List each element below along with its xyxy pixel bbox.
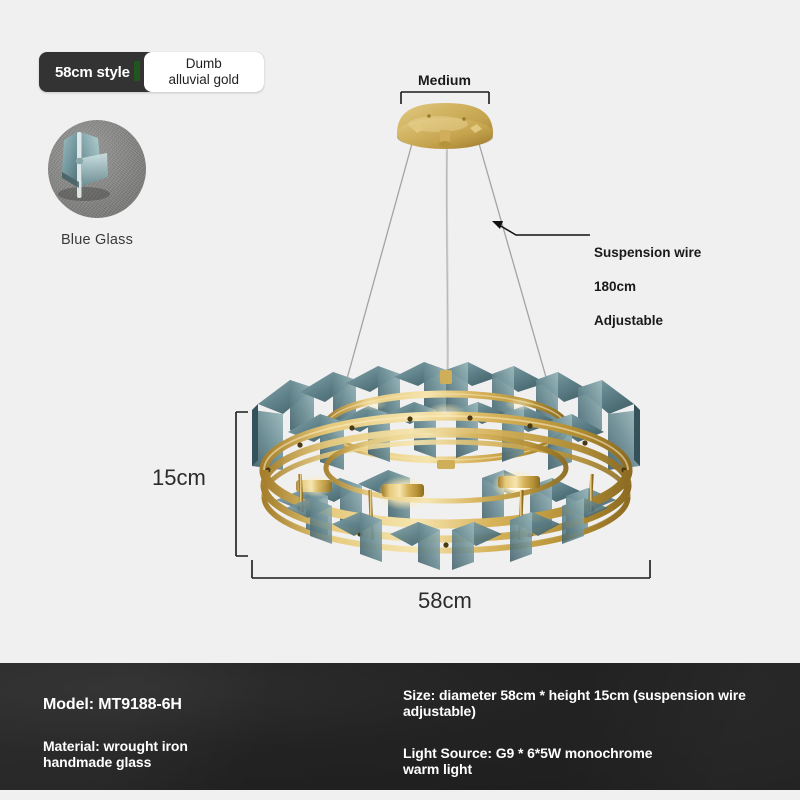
- height-dimension-bracket: [236, 412, 248, 556]
- chandelier-body: [252, 362, 640, 570]
- spec-column-right: Size: diameter 58cm * height 15cm (suspe…: [403, 687, 783, 777]
- spec-material-line2: handmade glass: [43, 754, 373, 770]
- spec-bar: Model: MT9188-6H Material: wrought iron …: [0, 663, 800, 790]
- bottom-strip: [0, 790, 800, 800]
- spec-size-line2: adjustable): [403, 703, 783, 719]
- canopy-dimension-bracket: [401, 92, 489, 104]
- spec-size-line1: Size: diameter 58cm * height 15cm (suspe…: [403, 687, 783, 703]
- ceiling-canopy: [397, 103, 493, 149]
- suspension-wire-leader-line: [492, 221, 590, 235]
- product-spec-image: 58cm style Dumb alluvial gold: [0, 0, 800, 800]
- spec-light-line2: warm light: [403, 761, 783, 777]
- diameter-dimension-bracket: [252, 560, 650, 578]
- spec-model: Model: MT9188-6H: [43, 695, 373, 714]
- spec-column-left: Model: MT9188-6H Material: wrought iron …: [43, 695, 373, 770]
- spec-light-line1: Light Source: G9 * 6*5W monochrome: [403, 745, 783, 761]
- spec-material-line1: Material: wrought iron: [43, 738, 373, 754]
